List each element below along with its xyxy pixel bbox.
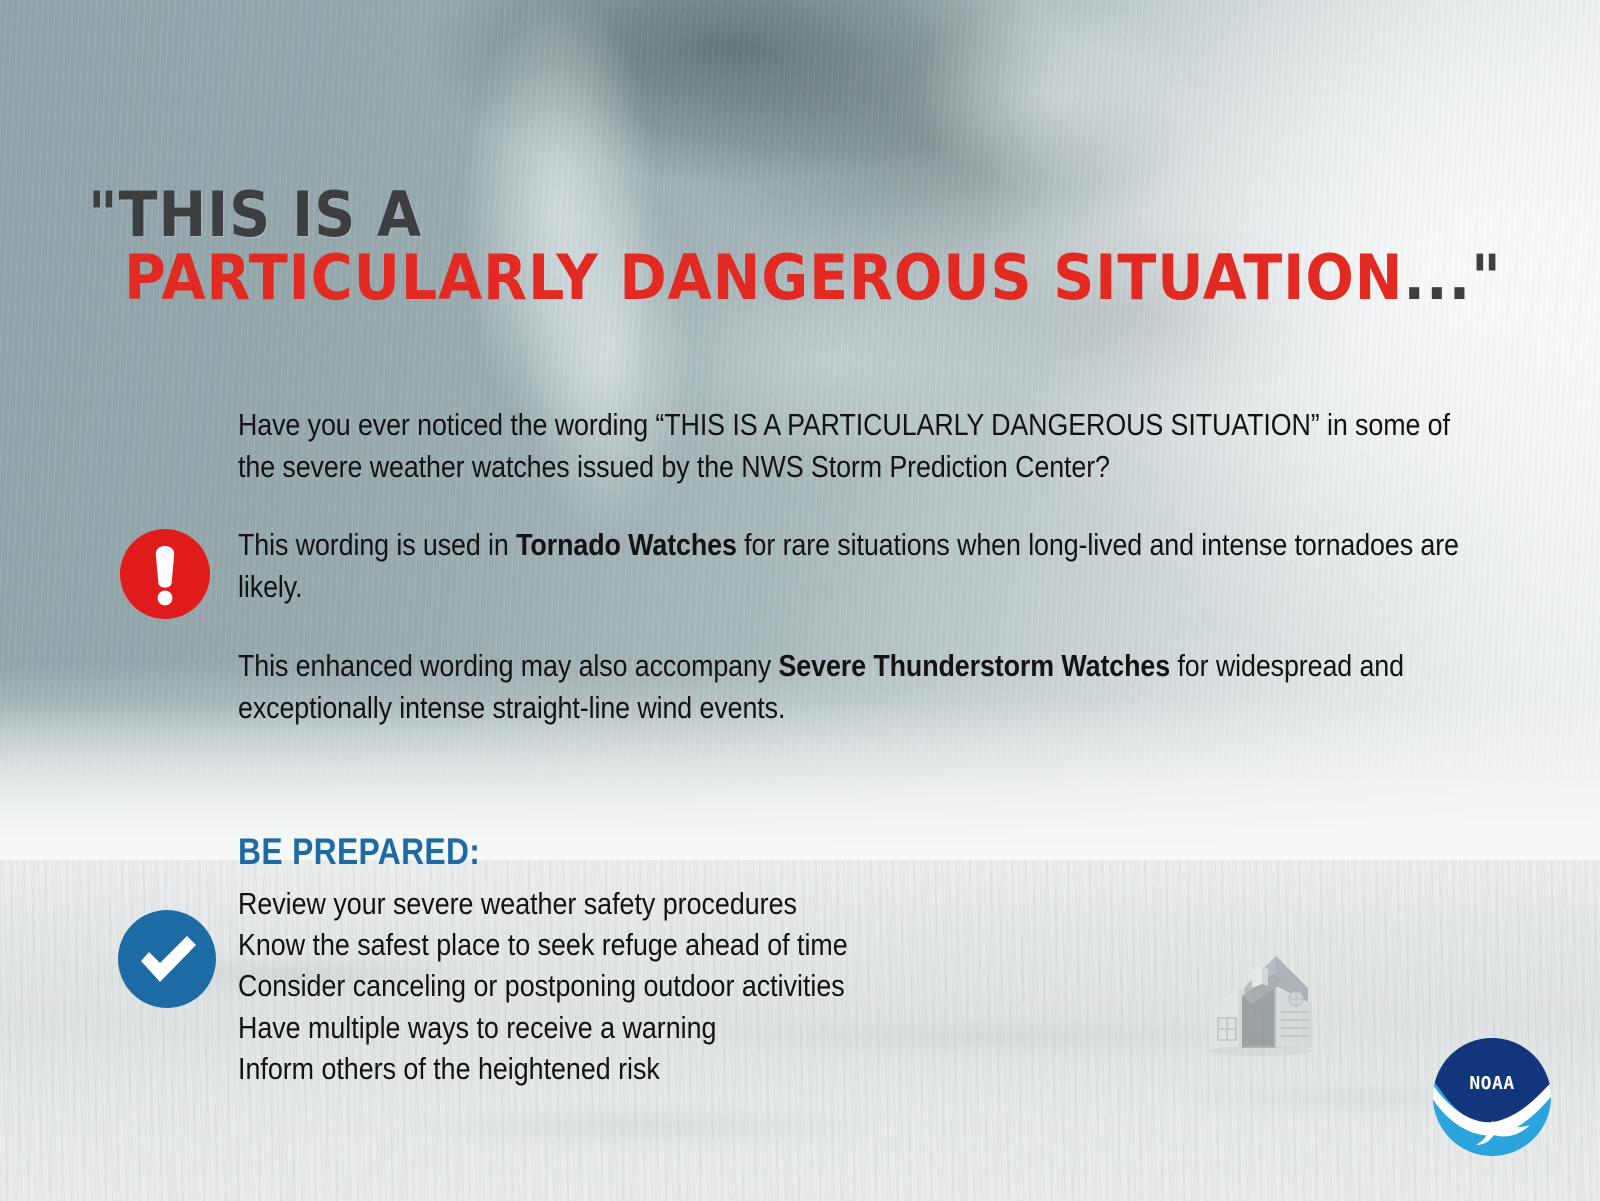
be-prepared-list: Review your severe weather safety proced… [238,883,1138,1089]
paragraph-intro: Have you ever noticed the wording “THIS … [238,404,1468,488]
noaa-logo-text: NOAA [1469,1073,1514,1094]
paragraph-3-before: This enhanced wording may also accompany [238,648,779,683]
paragraph-2-before: This wording is used in [238,527,516,562]
paragraph-3-bold: Severe Thunderstorm Watches [779,648,1171,683]
be-prepared-section: BE PREPARED: Review your severe weather … [238,831,1138,1089]
exclamation-circle-icon [119,528,211,620]
paragraph-tornado-watches: This wording is used in Tornado Watches … [238,524,1468,608]
headline-line-1: "THIS IS A [88,186,1413,243]
list-item: Have multiple ways to receive a warning [238,1007,1017,1048]
headline-line-2: PARTICULARLY DANGEROUS SITUATION..." [124,249,1416,306]
list-item: Know the safest place to seek refuge ahe… [238,924,1017,965]
list-item: Consider canceling or postponing outdoor… [238,965,1017,1006]
check-circle-icon [117,909,217,1009]
infographic-poster: "THIS IS A PARTICULARLY DANGEROUS SITUAT… [0,0,1600,1201]
headline-ellipsis: ... [1403,241,1471,314]
noaa-logo-icon: NOAA [1432,1037,1552,1157]
paragraph-severe-thunderstorm-watches: This enhanced wording may also accompany… [238,645,1468,729]
be-prepared-title: BE PREPARED: [238,831,1012,873]
list-item: Inform others of the heightened risk [238,1048,1017,1089]
body-copy: Have you ever noticed the wording “THIS … [238,404,1468,729]
headline-close-quote: " [1471,241,1502,314]
list-item: Review your severe weather safety proced… [238,883,1017,924]
paragraph-2-bold: Tornado Watches [516,527,737,562]
house-icon [1196,952,1318,1056]
headline: "THIS IS A PARTICULARLY DANGEROUS SITUAT… [88,186,1528,306]
headline-line-2-red: PARTICULARLY DANGEROUS SITUATION [124,241,1403,314]
